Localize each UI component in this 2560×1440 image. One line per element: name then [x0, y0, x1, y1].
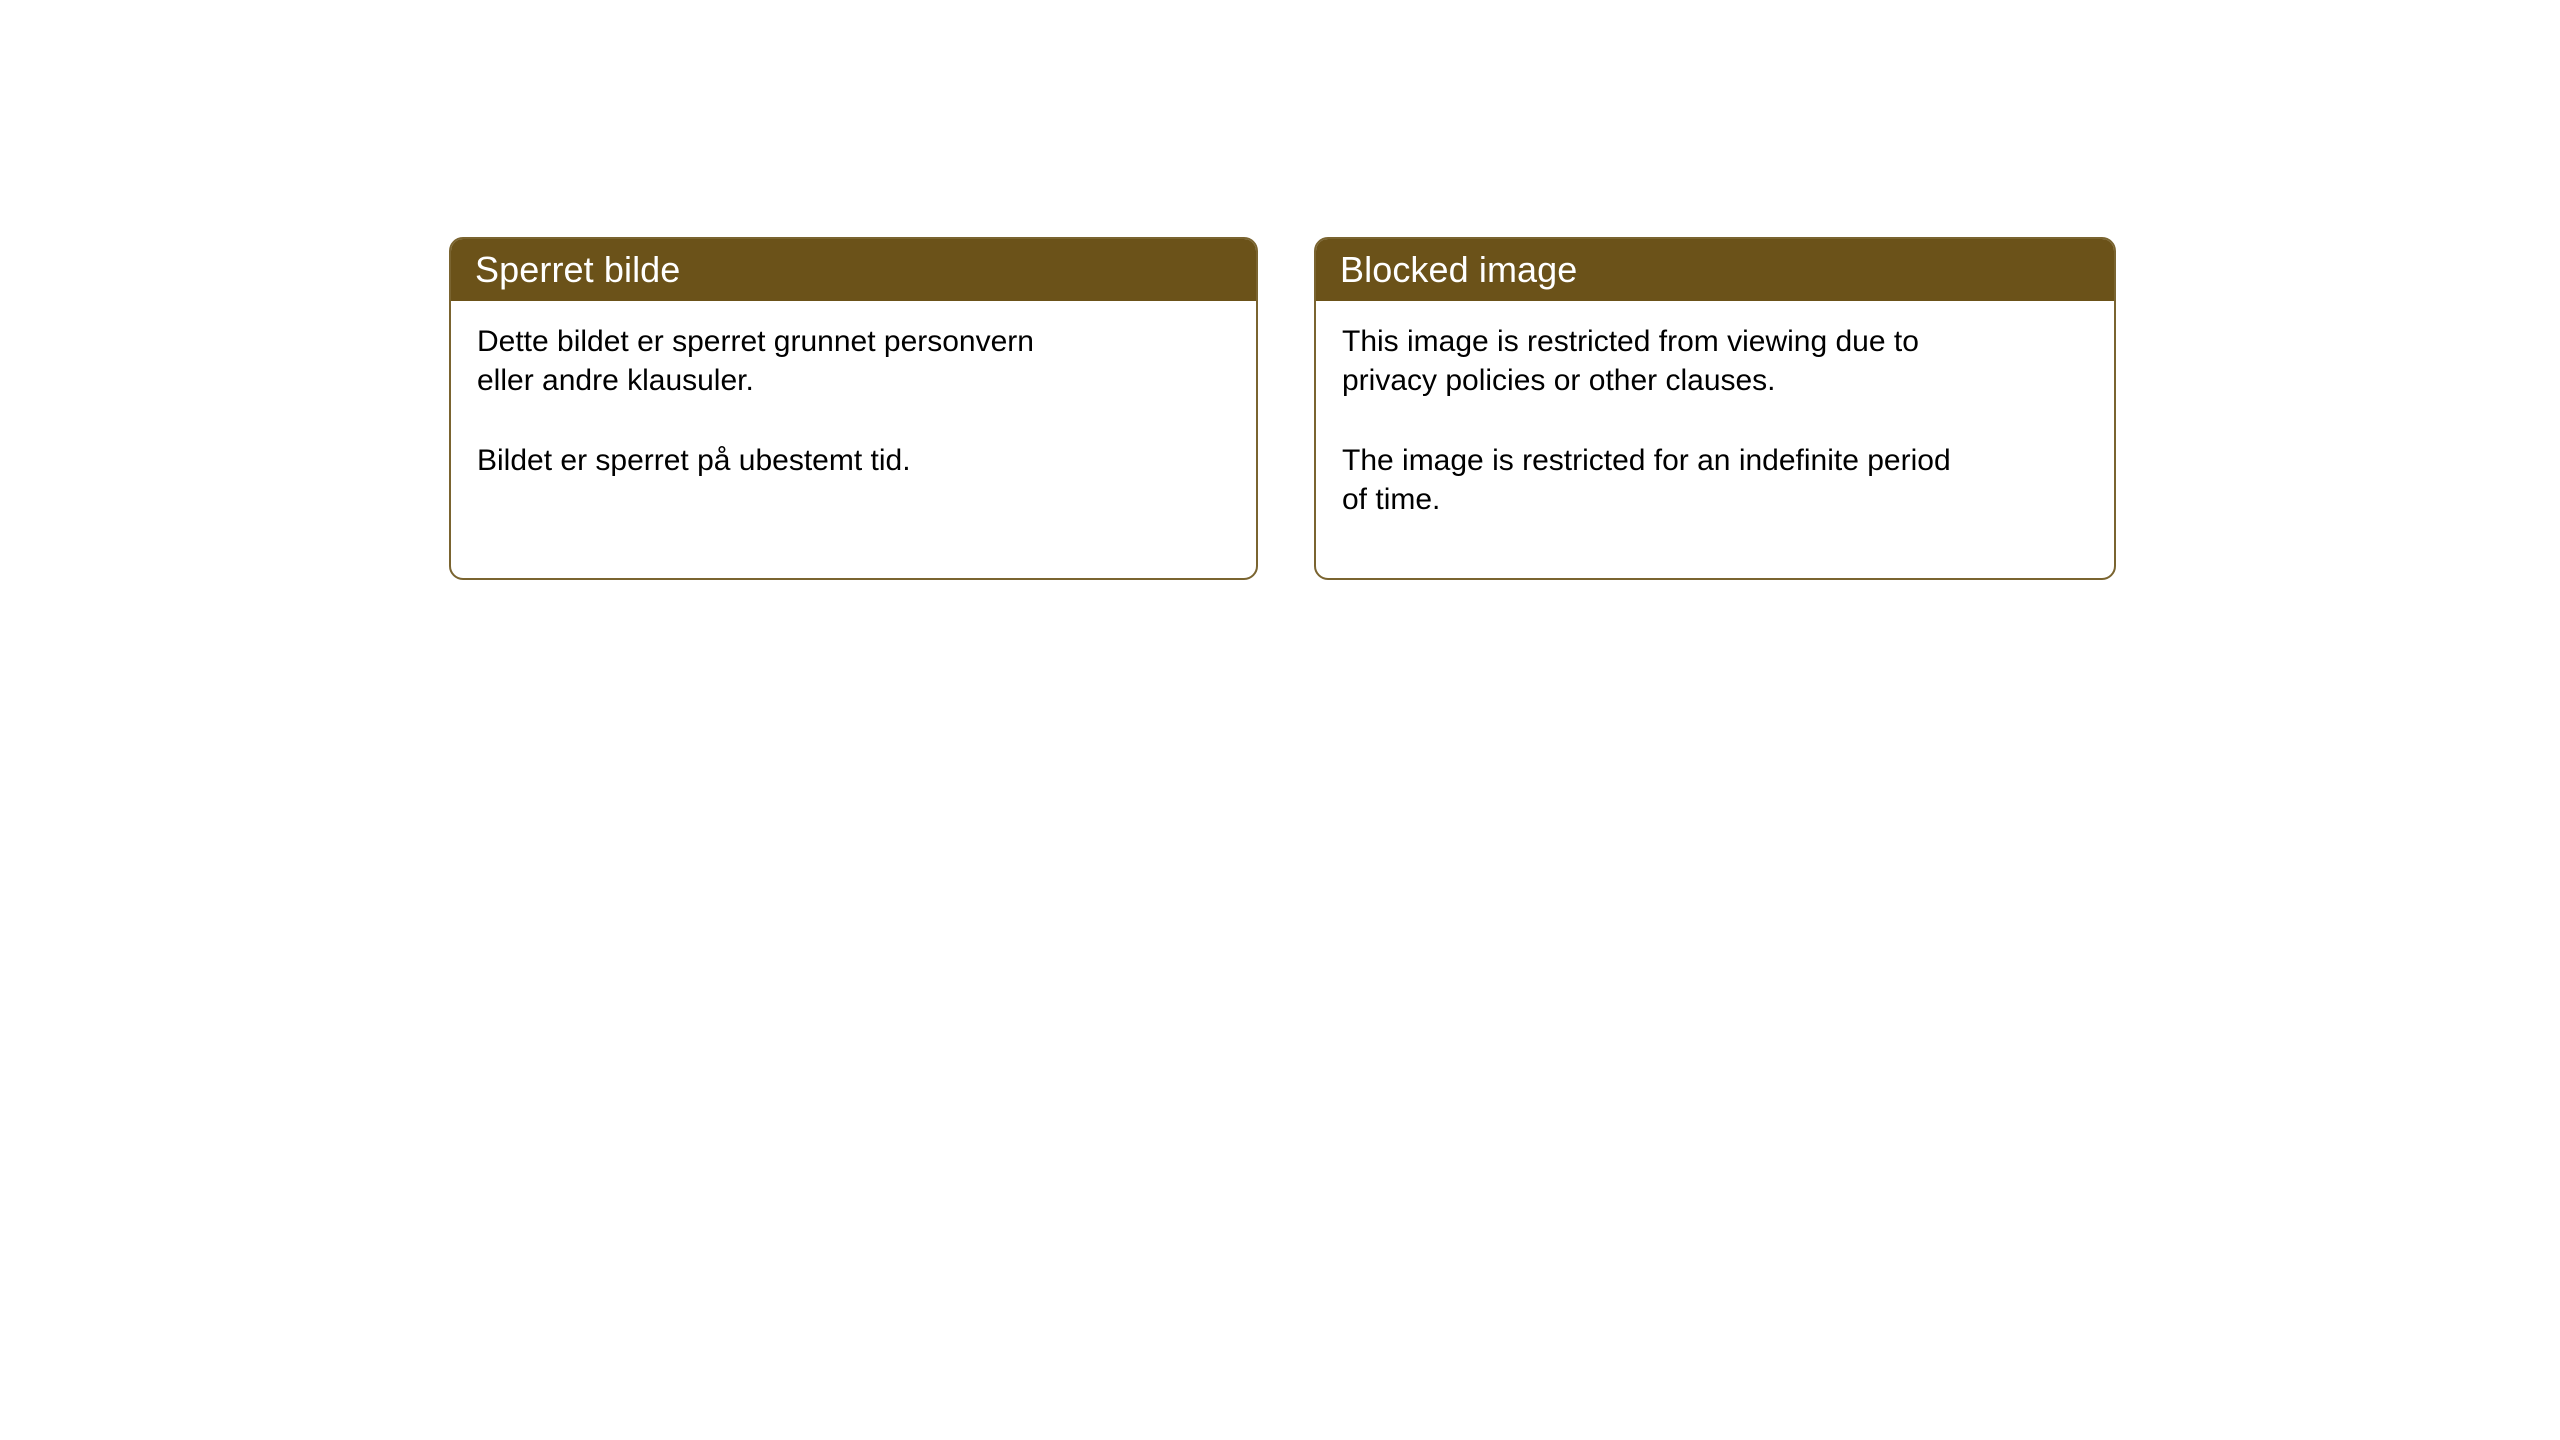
blocked-image-notice-card-norwegian: Sperret bilde Dette bildet er sperret gr…	[449, 237, 1258, 580]
card-body-norwegian: Dette bildet er sperret grunnet personve…	[451, 301, 1256, 481]
card-paragraph-duration-english: The image is restricted for an indefinit…	[1342, 442, 2088, 519]
card-paragraph-reason-norwegian: Dette bildet er sperret grunnet personve…	[477, 323, 1230, 400]
card-paragraph-duration-norwegian: Bildet er sperret på ubestemt tid.	[477, 442, 1230, 481]
card-header-english: Blocked image	[1316, 239, 2114, 301]
card-header-norwegian: Sperret bilde	[451, 239, 1256, 301]
page-root: Sperret bilde Dette bildet er sperret gr…	[0, 0, 2560, 1440]
card-title-english: Blocked image	[1340, 252, 1577, 288]
card-body-english: This image is restricted from viewing du…	[1316, 301, 2114, 520]
card-paragraph-reason-english: This image is restricted from viewing du…	[1342, 323, 2088, 400]
card-title-norwegian: Sperret bilde	[475, 252, 680, 288]
blocked-image-notice-card-english: Blocked image This image is restricted f…	[1314, 237, 2116, 580]
